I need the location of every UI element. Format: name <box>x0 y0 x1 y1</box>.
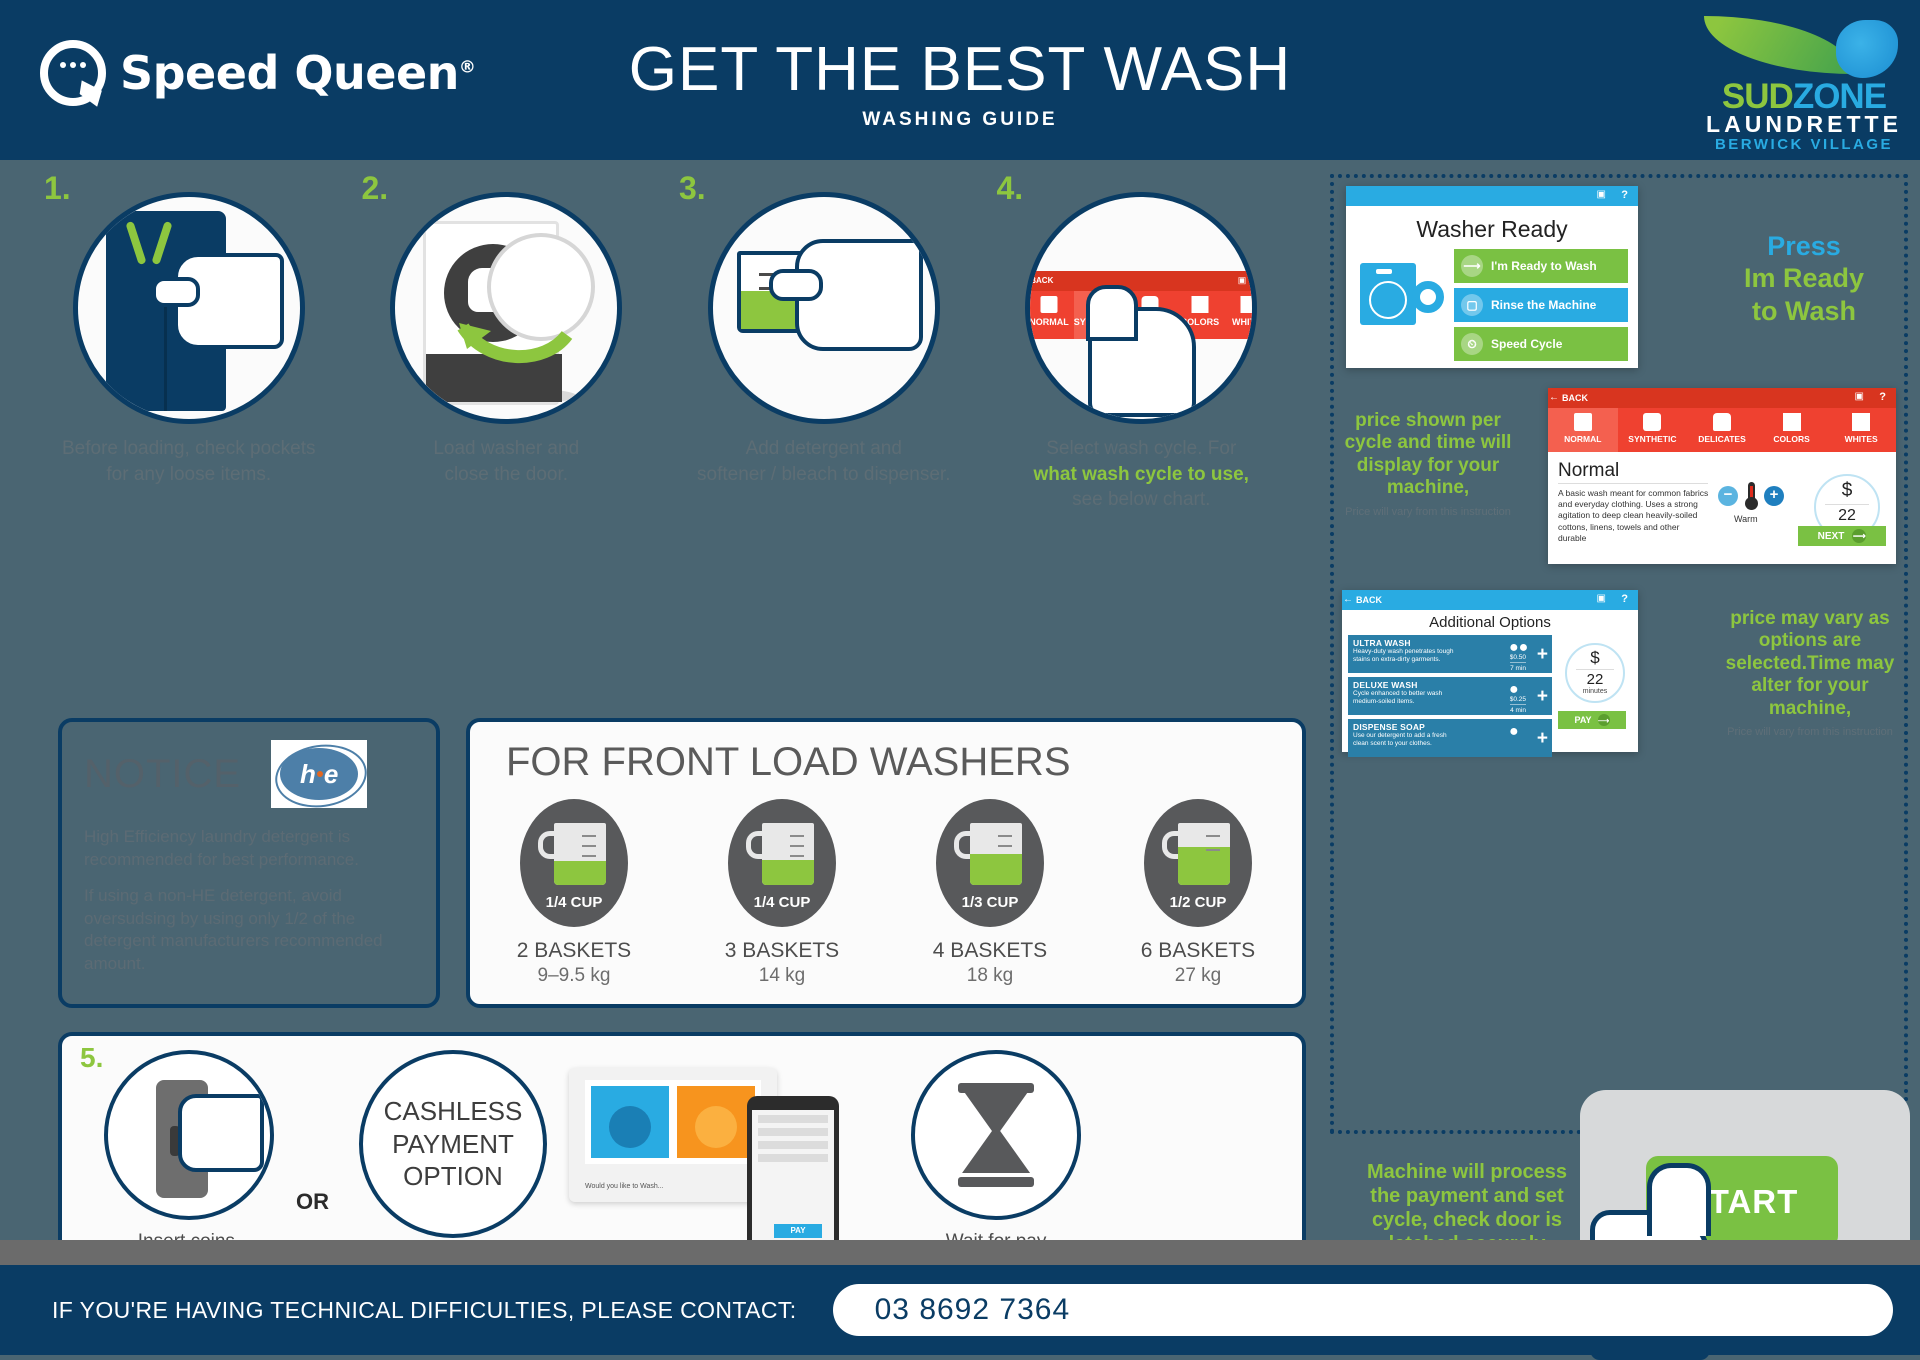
additional-options-screen[interactable]: ← BACK ▣ ? Additional Options ULTRA WASH… <box>1342 590 1638 752</box>
step-2-number: 2. <box>362 170 389 207</box>
basket-count: 6 BASKETS <box>1108 939 1288 963</box>
option-time: 7 min <box>1510 665 1526 672</box>
washing-machine-icon <box>1360 263 1444 333</box>
normal-cycle-screen[interactable]: ← BACK ▣ ? NORMAL SYNTHETIC DELICATES CO… <box>1548 388 1896 564</box>
hand-icon <box>174 253 284 349</box>
step-2-illustration <box>390 192 622 424</box>
option-ultra-wash[interactable]: ULTRA WASH Heavy-duty wash penetrates to… <box>1348 635 1552 673</box>
thermometer-icon <box>1743 482 1759 510</box>
logo-dots-icon <box>60 62 86 68</box>
left-column: 1. Before loading, check pockets for any… <box>0 160 1330 513</box>
page-subtitle: WASHING GUIDE <box>0 109 1920 131</box>
tab-delicates[interactable]: DELICATES <box>1687 408 1757 452</box>
step-4-caption-highlight: what wash cycle to use, <box>1034 464 1249 485</box>
kiosk-screen <box>585 1080 761 1164</box>
step-5-number: 5. <box>80 1042 103 1074</box>
hand-icon <box>178 1094 264 1172</box>
cashless-cell: CASHLESS PAYMENT OPTION <box>359 1050 547 1238</box>
notice-header: NOTICE he <box>62 722 436 808</box>
options-note: price may vary as options are selected.T… <box>1722 608 1898 739</box>
cycle-minutes: 22 <box>1816 507 1878 525</box>
step-4-number: 4. <box>997 170 1024 207</box>
payment-kiosk-illustration: Would you like to Wash... PAY <box>563 1050 863 1270</box>
basket-weight: 18 kg <box>900 965 1080 987</box>
options-note-small: Price will vary from this instruction <box>1722 726 1898 739</box>
smartphone-icon: PAY <box>747 1096 839 1264</box>
front-load-items: 1/4 CUP 2 BASKETS 9–9.5 kg 1/4 CUP 3 <box>470 799 1302 987</box>
page-header: Speed Queen® GET THE BEST WASH WASHING G… <box>0 0 1920 160</box>
front-load-title: FOR FRONT LOAD WASHERS <box>470 722 1302 785</box>
basket-weight: 14 kg <box>692 965 872 987</box>
notice-title: NOTICE <box>84 752 241 797</box>
pointing-hand-icon <box>1088 307 1196 417</box>
back-label[interactable]: BACK <box>1030 276 1053 285</box>
measuring-cup-icon <box>1178 823 1230 885</box>
notice-box: NOTICE he High Efficiency laundry deterg… <box>58 718 440 1008</box>
add-option-button[interactable]: + <box>1537 729 1548 748</box>
coin-slot-illustration <box>104 1050 274 1220</box>
press-ready-note: Press Im Ready to Wash <box>1714 230 1894 327</box>
back-arrow-icon[interactable]: ← <box>1343 594 1353 605</box>
screen-top-bar: ← BACK ▣ ? <box>1342 590 1638 610</box>
next-button[interactable]: NEXT ⟶ <box>1798 526 1886 546</box>
or-separator: OR <box>296 1131 329 1215</box>
tab-whites[interactable]: WHITES <box>1826 408 1896 452</box>
option-dispense-soap[interactable]: DISPENSE SOAP Use our detergent to add a… <box>1348 719 1552 757</box>
sudzone-line3: BERWICK VILLAGE <box>1704 136 1904 153</box>
help-icon[interactable]: ? <box>1879 391 1886 403</box>
cycle-tabs[interactable]: NORMAL SYNTHETIC DELICATES COLORS WHITES <box>1548 408 1896 452</box>
option-price: $0.50 <box>1510 654 1526 663</box>
printer-icon: ▣ <box>1855 391 1864 402</box>
basket-count: 4 BASKETS <box>900 939 1080 963</box>
measuring-cup-icon <box>554 823 606 885</box>
step-4-caption-line3: see below chart. <box>1072 489 1210 510</box>
printer-icon: ▣ <box>1597 189 1606 200</box>
temp-plus-button[interactable]: + <box>1764 486 1784 506</box>
bubbles-icon: ● <box>1509 681 1525 693</box>
washer-ready-title: Washer Ready <box>1346 216 1638 243</box>
price-symbol: $ <box>1816 480 1878 502</box>
option-deluxe-wash[interactable]: DELUXE WASH Cycle enhanced to better was… <box>1348 677 1552 715</box>
front-load-item: 1/4 CUP 2 BASKETS 9–9.5 kg <box>484 799 664 987</box>
steps-row: 1. Before loading, check pockets for any… <box>0 160 1330 513</box>
price-note-green: price shown per cycle and time will disp… <box>1338 410 1518 500</box>
bubbles-icon: ●● <box>1509 639 1525 651</box>
temp-minus-button[interactable]: − <box>1718 486 1738 506</box>
step-1: 1. Before loading, check pockets for any… <box>30 170 348 513</box>
kiosk-panel: Would you like to Wash... <box>569 1068 777 1202</box>
option-time: 4 min <box>1510 707 1526 714</box>
printer-icon: ▣ <box>1597 593 1606 604</box>
footer-contact-text: IF YOU'RE HAVING TECHNICAL DIFFICULTIES,… <box>52 1297 797 1324</box>
pay-button[interactable]: PAY ⟶ <box>1558 711 1626 729</box>
hand-icon <box>795 239 923 351</box>
step-4-illustration: BACK ▣ ? NORMAL SYNTHETIC DELICATES COLO… <box>1025 192 1257 424</box>
front-load-item: 1/2 CUP 6 BASKETS 27 kg <box>1108 799 1288 987</box>
registered-mark: ® <box>459 58 476 78</box>
main-content: 1. Before loading, check pockets for any… <box>0 160 1920 1310</box>
step-3-caption-line2: softener / bleach to dispenser. <box>697 464 951 485</box>
phone-pay-button[interactable]: PAY <box>774 1224 822 1238</box>
footer-divider <box>0 1240 1920 1266</box>
printer-icon: ▣ <box>1238 275 1247 286</box>
speed-queen-logo: Speed Queen® <box>40 40 475 106</box>
option-price: $0.25 <box>1510 696 1526 705</box>
step-4: 4. BACK ▣ ? NORMAL SYNTHETIC DELICATES C… <box>983 170 1301 513</box>
rinse-the-machine-button[interactable]: ▢ Rinse the Machine <box>1454 288 1628 322</box>
press-note-line2: Im Ready <box>1714 262 1894 294</box>
back-label[interactable]: BACK <box>1356 595 1382 605</box>
screen-top-bar: ← BACK ▣ ? <box>1548 388 1896 408</box>
hourglass-icon <box>954 1083 1038 1187</box>
price-note: price shown per cycle and time will disp… <box>1338 410 1518 519</box>
speed-queen-mark-icon <box>40 40 106 106</box>
leaf-splash-icon <box>1704 8 1904 80</box>
footer-phone-box: 03 8692 7364 <box>833 1284 1893 1336</box>
footer-phone-number: 03 8692 7364 <box>875 1293 1071 1327</box>
screen-top-bar: ▣ ? <box>1346 186 1638 206</box>
step-1-caption-line2: for any loose items. <box>106 464 271 485</box>
basket-weight: 27 kg <box>1108 965 1288 987</box>
step-3-illustration <box>708 192 940 424</box>
sudzone-line2: LAUNDRETTE <box>1704 113 1904 136</box>
additional-options-title: Additional Options <box>1342 614 1638 631</box>
cycle-description: A basic wash meant for common fabrics an… <box>1558 488 1710 544</box>
tab-normal[interactable]: NORMAL <box>1548 408 1618 452</box>
back-arrow-icon[interactable]: ← <box>1549 392 1559 403</box>
notice-paragraph-2: If using a non-HE detergent, avoid overs… <box>62 885 436 975</box>
step-1-caption-line1: Before loading, check pockets <box>62 438 316 459</box>
cashless-payment-circle: CASHLESS PAYMENT OPTION <box>359 1050 547 1238</box>
kiosk-prompt: Would you like to Wash... <box>585 1183 664 1190</box>
help-icon[interactable]: ? <box>1621 189 1628 201</box>
back-label[interactable]: BACK <box>1562 393 1588 403</box>
speed-queen-wordmark: Speed Queen® <box>120 46 475 100</box>
price-note-small: Price will vary from this instruction <box>1338 506 1518 519</box>
clock-icon: ⏲ <box>1461 333 1483 355</box>
tab-normal[interactable]: NORMAL <box>1025 291 1074 339</box>
front-load-box: FOR FRONT LOAD WASHERS 1/4 CUP 2 BASKETS… <box>466 718 1306 1008</box>
step-4-caption: Select wash cycle. For what wash cycle t… <box>983 436 1301 513</box>
cup-amount: 1/3 CUP <box>936 894 1044 911</box>
washer-icon: ▢ <box>1461 294 1483 316</box>
im-ready-to-wash-button[interactable]: ⟶ I'm Ready to Wash <box>1454 249 1628 283</box>
notice-paragraph-1: High Efficiency laundry detergent is rec… <box>62 826 436 871</box>
step-4-caption-line1: Select wash cycle. For <box>1046 438 1236 459</box>
add-option-button[interactable]: + <box>1537 687 1548 706</box>
price-symbol: $ <box>1567 648 1623 668</box>
step-3-number: 3. <box>679 170 706 207</box>
price-time-display: $ 22 minutes <box>1565 643 1625 703</box>
cup-amount: 1/4 CUP <box>520 894 628 911</box>
step-2: 2. Load washer and close the door. <box>348 170 666 513</box>
step-1-number: 1. <box>44 170 71 207</box>
front-load-item: 1/3 CUP 4 BASKETS 18 kg <box>900 799 1080 987</box>
cycle-heading: Normal <box>1558 460 1708 484</box>
add-option-button[interactable]: + <box>1537 645 1548 664</box>
he-logo-icon: he <box>271 740 367 808</box>
cup-amount: 1/2 CUP <box>1144 894 1252 911</box>
arrow-right-icon: ⟶ <box>1598 714 1610 726</box>
step-3: 3. Add detergent and softener / bleach t… <box>665 170 983 513</box>
cycle-minutes: 22 <box>1567 671 1623 688</box>
front-load-item: 1/4 CUP 3 BASKETS 14 kg <box>692 799 872 987</box>
speed-cycle-button[interactable]: ⏲ Speed Cycle <box>1454 327 1628 361</box>
arrow-right-icon: ⟶ <box>1852 529 1866 543</box>
step-1-caption: Before loading, check pockets for any lo… <box>30 436 348 487</box>
green-arrow-icon <box>457 317 577 369</box>
press-note-line1: Press <box>1714 230 1894 262</box>
tab-synthetic[interactable]: SYNTHETIC <box>1618 408 1688 452</box>
tab-whites[interactable]: WHITES <box>1225 291 1258 339</box>
brand-text: Speed Queen <box>120 46 459 100</box>
options-note-green: price may vary as options are selected.T… <box>1722 608 1898 720</box>
sudzone-wordmark: SUDZONE <box>1704 80 1904 113</box>
step-1-illustration <box>73 192 305 424</box>
temperature-label: Warm <box>1734 514 1758 524</box>
help-icon[interactable]: ? <box>1621 593 1628 605</box>
step-3-caption: Add detergent and softener / bleach to d… <box>665 436 983 487</box>
sudzone-logo: SUDZONE LAUNDRETTE BERWICK VILLAGE <box>1704 8 1904 153</box>
step-2-caption-line1: Load washer and <box>433 438 579 459</box>
arrow-right-icon: ⟶ <box>1461 255 1483 277</box>
basket-count: 3 BASKETS <box>692 939 872 963</box>
basket-count: 2 BASKETS <box>484 939 664 963</box>
washer-ready-screen[interactable]: ▣ ? Washer Ready ⟶ I'm Ready to Wash <box>1346 186 1638 368</box>
hourglass-illustration <box>911 1050 1081 1220</box>
step-2-caption-line2: close the door. <box>444 464 568 485</box>
temperature-control[interactable]: − + <box>1718 482 1784 510</box>
minutes-label: minutes <box>1567 688 1623 695</box>
press-note-line3: to Wash <box>1714 295 1894 327</box>
tab-colors[interactable]: COLORS <box>1757 408 1827 452</box>
step-2-caption: Load washer and close the door. <box>348 436 666 487</box>
cup-amount: 1/4 CUP <box>728 894 836 911</box>
control-panel-guide: ▣ ? Washer Ready ⟶ I'm Ready to Wash <box>1330 174 1908 1134</box>
measuring-cup-icon <box>970 823 1022 885</box>
page-footer: IF YOU'RE HAVING TECHNICAL DIFFICULTIES,… <box>0 1265 1920 1355</box>
basket-weight: 9–9.5 kg <box>484 965 664 987</box>
step-3-caption-line1: Add detergent and <box>746 438 902 459</box>
measuring-cup-icon <box>762 823 814 885</box>
soap-icon: ● <box>1509 723 1525 735</box>
